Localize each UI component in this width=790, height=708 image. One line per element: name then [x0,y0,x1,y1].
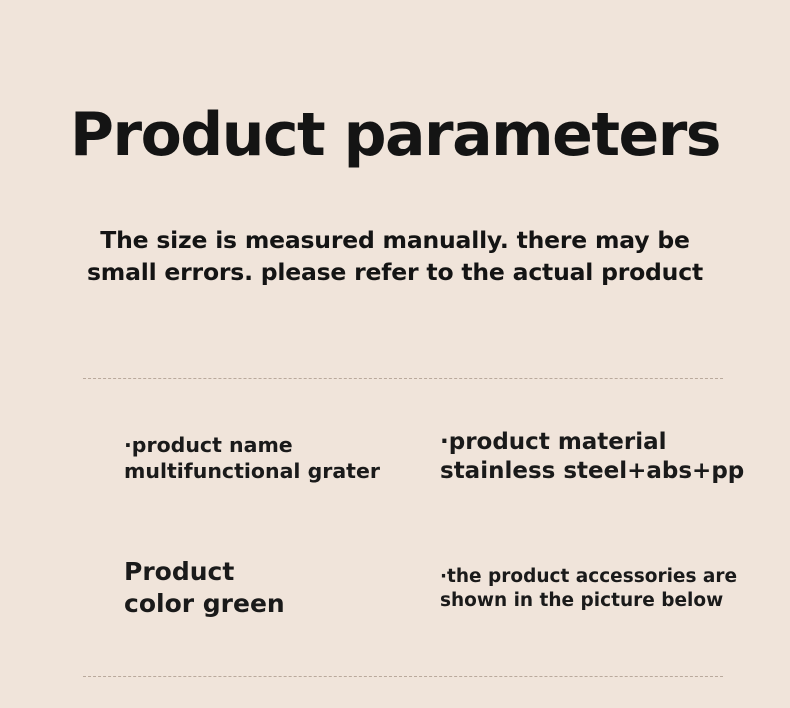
divider-top [83,378,723,379]
spec-product-color-label: Product [124,556,285,588]
spec-product-accessories-value: shown in the picture below [440,589,737,613]
subtitle-line-1: The size is measured manually. there may… [100,226,689,254]
spec-product-material-label: ·product material [440,428,744,457]
divider-bottom [83,676,723,677]
spec-product-color-value: color green [124,588,285,620]
spec-product-material: ·product material stainless steel+abs+pp [440,428,744,486]
spec-product-name: ·product name multifunctional grater [124,433,380,484]
spec-product-accessories-label: ·the product accessories are [440,565,737,589]
page-title: Product parameters [0,104,790,167]
page-subtitle: The size is measured manually. there may… [0,224,790,289]
subtitle-line-2: small errors. please refer to the actual… [0,256,790,288]
spec-product-name-value: multifunctional grater [124,459,380,485]
spec-product-accessories: ·the product accessories are shown in th… [440,565,737,613]
specs-grid: ·product name multifunctional grater ·pr… [0,425,790,665]
product-parameters-page: Product parameters The size is measured … [0,0,790,708]
spec-product-color: Product color green [124,556,285,620]
spec-product-material-value: stainless steel+abs+pp [440,457,744,486]
spec-product-name-label: ·product name [124,433,380,459]
